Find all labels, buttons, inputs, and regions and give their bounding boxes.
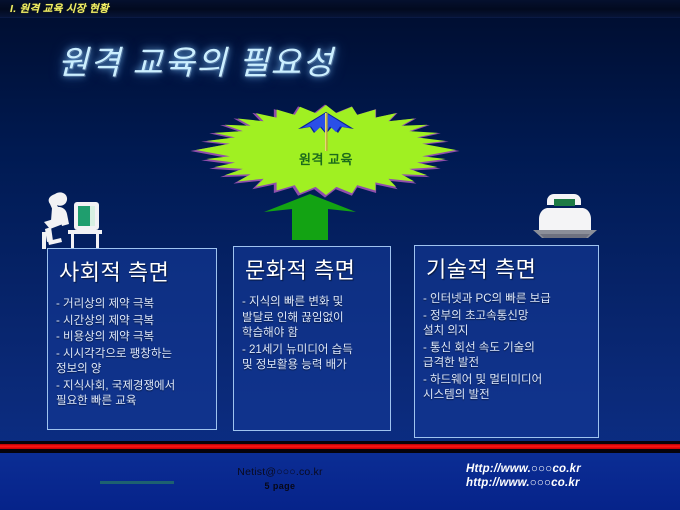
person-at-computer-icon [30,188,108,250]
center-graphic: 원격 교육 [196,105,456,195]
aspect-column-social: 사회적 측면 - 거리상의 제약 극복 - 시간상의 제약 극복 - 비용상의 … [47,248,217,430]
footer: Netist@○○○.co.kr 5 page Http://www.○○○co… [0,453,680,510]
list-item: - 비용상의 제약 극복 [56,330,210,346]
column-bullet-list: - 거리상의 제약 극복 - 시간상의 제약 극복 - 비용상의 제약 극복 -… [56,297,210,411]
page-title: 원격 교육의 필요성 [58,36,334,84]
list-item: - 21세기 뉴미디어 습득 및 정보활용 능력 배가 [242,343,384,374]
footer-link[interactable]: http://www.○○○co.kr [466,476,676,490]
slide-canvas: I. 원격 교육 시장 현황 원격 교육의 필요성 원격 교육 [0,0,680,510]
footer-links: Http://www.○○○co.kr http://www.○○○co.kr [466,462,676,490]
umbrella-icon [294,109,358,153]
list-item: - 통신 회선 속도 기술의 급격한 발전 [423,341,592,372]
column-heading: 문화적 측면 [245,253,355,285]
starburst-label: 원격 교육 [196,149,456,168]
technician-at-desk-icon [528,190,600,248]
list-item: - 하드웨어 및 멀티미디어 시스템의 발전 [423,373,592,404]
column-heading: 사회적 측면 [59,255,169,287]
section-label: I. 원격 교육 시장 현황 [10,1,109,16]
list-item: - 시간상의 제약 극복 [56,314,210,330]
column-bullet-list: - 인터넷과 PC의 빠른 보급 - 정부의 초고속통신망 설치 의지 - 통신… [423,292,592,405]
list-item: - 시시각각으로 팽창하는 정보의 양 [56,347,210,378]
column-heading: 기술적 측면 [426,252,536,284]
list-item: - 인터넷과 PC의 빠른 보급 [423,292,592,308]
aspect-column-technical: 기술적 측면 - 인터넷과 PC의 빠른 보급 - 정부의 초고속통신망 설치 … [414,245,599,438]
list-item: - 지식사회, 국제경쟁에서 필요한 빠른 교육 [56,379,210,410]
up-arrow-icon [262,192,358,240]
footer-link[interactable]: Http://www.○○○co.kr [466,462,676,476]
list-item: - 거리상의 제약 극복 [56,297,210,313]
column-bullet-list: - 지식의 빠른 변화 및 발달로 인해 끊임없이 학습해야 함 - 21세기 … [242,295,384,375]
list-item: - 정부의 초고속통신망 설치 의지 [423,309,592,340]
aspect-column-cultural: 문화적 측면 - 지식의 빠른 변화 및 발달로 인해 끊임없이 학습해야 함 … [233,246,391,431]
red-divider-bar [0,441,680,453]
list-item: - 지식의 빠른 변화 및 발달로 인해 끊임없이 학습해야 함 [242,295,384,342]
